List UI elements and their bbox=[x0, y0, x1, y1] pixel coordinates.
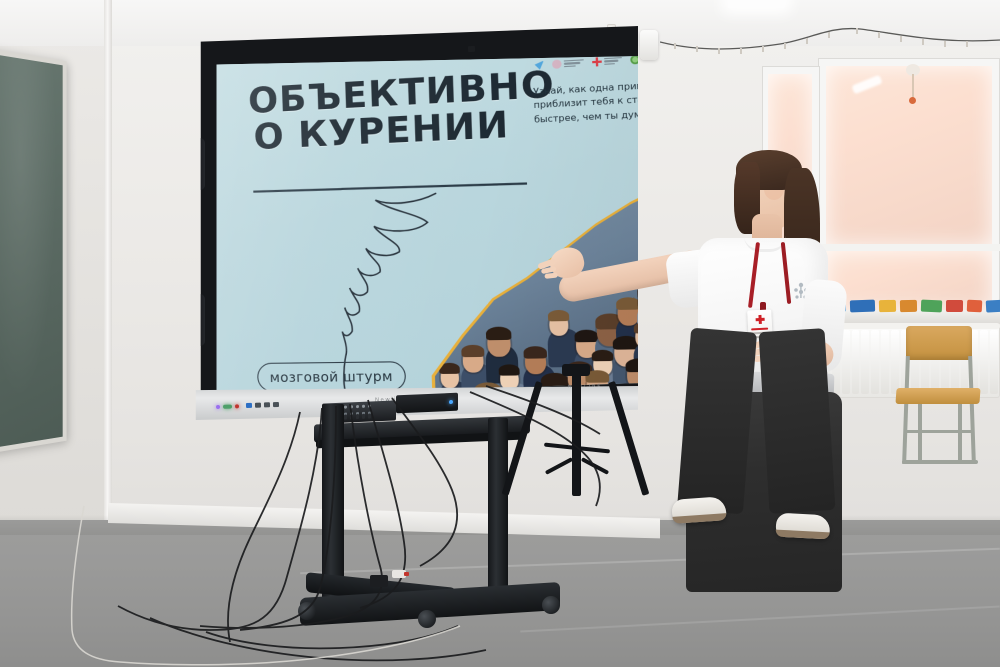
red-cross-icon bbox=[755, 315, 764, 324]
paper-crafts bbox=[828, 300, 1000, 314]
right-shoe bbox=[775, 513, 830, 540]
green-circle-logo bbox=[630, 55, 638, 65]
paper-craft bbox=[986, 299, 1000, 312]
photo-scene: ОБЪЕКТИВНО О КУРЕНИИ Узнай, как одна при… bbox=[0, 0, 1000, 667]
plug-indicator bbox=[404, 572, 409, 576]
paper-craft bbox=[967, 300, 983, 313]
paper-craft bbox=[879, 300, 896, 312]
fairy-lights bbox=[660, 18, 1000, 58]
left-shoe bbox=[671, 496, 727, 524]
hanging-decoration bbox=[906, 64, 920, 104]
slide-title: ОБЪЕКТИВНО О КУРЕНИИ bbox=[248, 67, 528, 156]
paper-craft bbox=[850, 300, 875, 313]
school-chair bbox=[896, 326, 980, 466]
slide-subtitle: Узнай, как одна привычка приблизит тебя … bbox=[533, 76, 638, 126]
paper-craft bbox=[946, 300, 963, 312]
camera-icon bbox=[468, 46, 475, 52]
right-leg bbox=[759, 328, 836, 514]
power-brick bbox=[370, 575, 388, 587]
display-handle[interactable] bbox=[194, 138, 205, 190]
red-cross-logo bbox=[592, 57, 602, 67]
paper-craft bbox=[900, 300, 917, 312]
paper-craft bbox=[921, 300, 942, 313]
ceiling-light bbox=[727, 0, 786, 8]
presenter bbox=[548, 150, 848, 667]
